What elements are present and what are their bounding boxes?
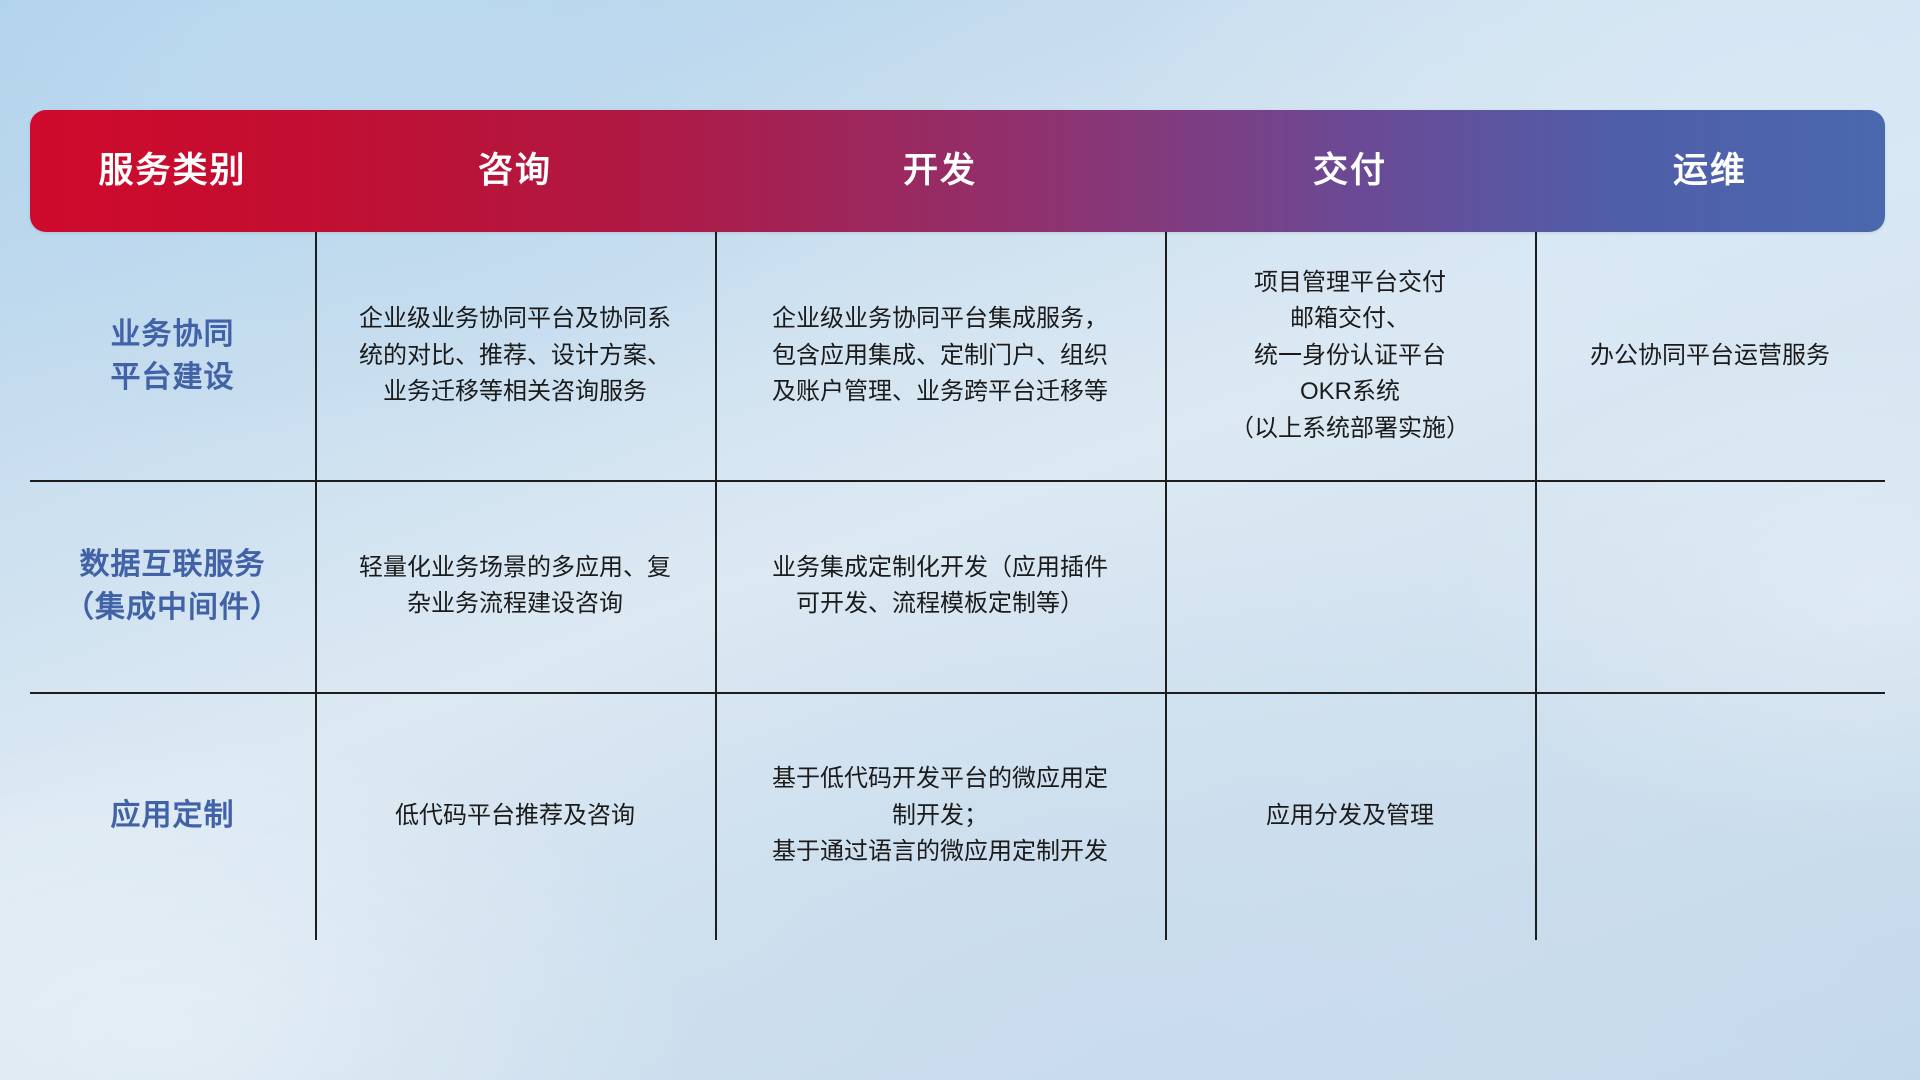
table-row: 数据互联服务 （集成中间件） 轻量化业务场景的多应用、复 杂业务流程建设咨询 业… (30, 480, 1885, 692)
column-header-service-category: 服务类别 (30, 110, 315, 232)
row-label-data-interconnection: 数据互联服务 （集成中间件） (30, 480, 315, 692)
column-header-label: 运维 (1673, 150, 1747, 192)
service-category-table: 服务类别 咨询 开发 交付 运维 业务协同 平台建设 企业级业务协同平台及协同系… (30, 110, 1885, 950)
cell-consulting: 轻量化业务场景的多应用、复 杂业务流程建设咨询 (315, 480, 715, 692)
cell-delivery: 项目管理平台交付 邮箱交付、 统一身份认证平台 OKR系统 （以上系统部署实施） (1165, 232, 1535, 480)
page-canvas: 服务类别 咨询 开发 交付 运维 业务协同 平台建设 企业级业务协同平台及协同系… (0, 0, 1920, 1080)
row-label-business-collaboration: 业务协同 平台建设 (30, 232, 315, 480)
column-header-operations: 运维 (1535, 110, 1885, 232)
cell-consulting: 低代码平台推荐及咨询 (315, 692, 715, 940)
cell-operations (1535, 692, 1885, 940)
cell-delivery (1165, 480, 1535, 692)
column-header-label: 交付 (1313, 150, 1387, 192)
row-label-application-customization: 应用定制 (30, 692, 315, 940)
column-header-label: 咨询 (478, 150, 552, 192)
table-body: 业务协同 平台建设 企业级业务协同平台及协同系 统的对比、推荐、设计方案、 业务… (30, 232, 1885, 940)
column-header-label: 开发 (903, 150, 977, 192)
cell-development: 企业级业务协同平台集成服务， 包含应用集成、定制门户、组织 及账户管理、业务跨平… (715, 232, 1165, 480)
column-header-delivery: 交付 (1165, 110, 1535, 232)
table-header-row: 服务类别 咨询 开发 交付 运维 (30, 110, 1885, 232)
cell-consulting: 企业级业务协同平台及协同系 统的对比、推荐、设计方案、 业务迁移等相关咨询服务 (315, 232, 715, 480)
column-header-label: 服务类别 (98, 150, 246, 192)
column-header-development: 开发 (715, 110, 1165, 232)
table-row: 业务协同 平台建设 企业级业务协同平台及协同系 统的对比、推荐、设计方案、 业务… (30, 232, 1885, 480)
column-header-consulting: 咨询 (315, 110, 715, 232)
cell-delivery: 应用分发及管理 (1165, 692, 1535, 940)
table-row: 应用定制 低代码平台推荐及咨询 基于低代码开发平台的微应用定 制开发； 基于通过… (30, 692, 1885, 940)
cell-operations (1535, 480, 1885, 692)
cell-development: 业务集成定制化开发（应用插件 可开发、流程模板定制等） (715, 480, 1165, 692)
cell-operations: 办公协同平台运营服务 (1535, 232, 1885, 480)
cell-development: 基于低代码开发平台的微应用定 制开发； 基于通过语言的微应用定制开发 (715, 692, 1165, 940)
